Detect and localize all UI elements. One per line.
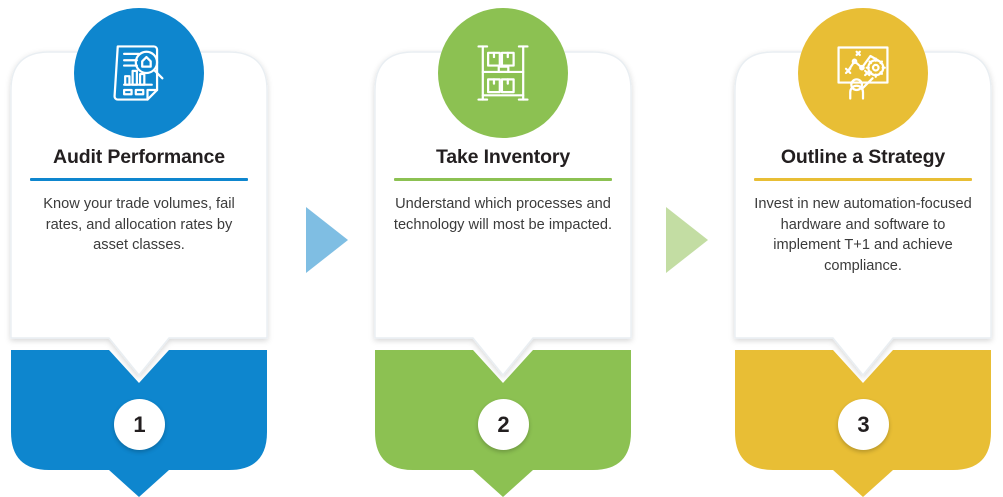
step-3-description: Invest in new automation-focused hardwar… <box>735 194 991 276</box>
warehouse-shelf-boxes-icon <box>469 39 537 107</box>
infographic-canvas: Audit Performance Know your trade volume… <box>0 0 1003 497</box>
right-triangle-icon <box>666 207 708 273</box>
step-3-title: Outline a Strategy <box>735 145 991 169</box>
step-1-title-rule <box>30 178 248 181</box>
step-card-1[interactable]: Audit Performance Know your trade volume… <box>11 0 267 497</box>
arrow-step2-to-step3 <box>666 207 708 278</box>
step-card-2[interactable]: Take Inventory Understand which processe… <box>375 0 631 497</box>
step-3-number: 3 <box>857 414 869 436</box>
arrow-2-triangle <box>666 207 708 273</box>
step-1-number-badge: 1 <box>114 399 165 450</box>
step-2-title: Take Inventory <box>375 145 631 169</box>
arrow-step1-to-step2 <box>306 207 348 278</box>
step-1-description: Know your trade volumes, fail rates, and… <box>11 194 267 256</box>
step-3-body: Outline a Strategy Invest in new automat… <box>735 145 991 276</box>
strategy-board-presenter-icon <box>829 39 897 107</box>
step-2-icon-circle <box>438 8 568 138</box>
step-1-icon-circle <box>74 8 204 138</box>
step-3-icon-circle <box>798 8 928 138</box>
right-triangle-icon <box>306 207 348 273</box>
step-2-body: Take Inventory Understand which processe… <box>375 145 631 235</box>
step-3-title-rule <box>754 178 972 181</box>
step-1-number: 1 <box>133 414 145 436</box>
step-1-title: Audit Performance <box>11 145 267 169</box>
step-3-number-badge: 3 <box>838 399 889 450</box>
step-2-description: Understand which processes and technolog… <box>375 194 631 235</box>
step-2-number: 2 <box>497 414 509 436</box>
step-2-title-rule <box>394 178 612 181</box>
step-1-body: Audit Performance Know your trade volume… <box>11 145 267 256</box>
arrow-1-triangle <box>306 207 348 273</box>
step-card-3[interactable]: Outline a Strategy Invest in new automat… <box>735 0 991 497</box>
document-magnifier-chart-icon <box>105 39 173 107</box>
step-2-number-badge: 2 <box>478 399 529 450</box>
